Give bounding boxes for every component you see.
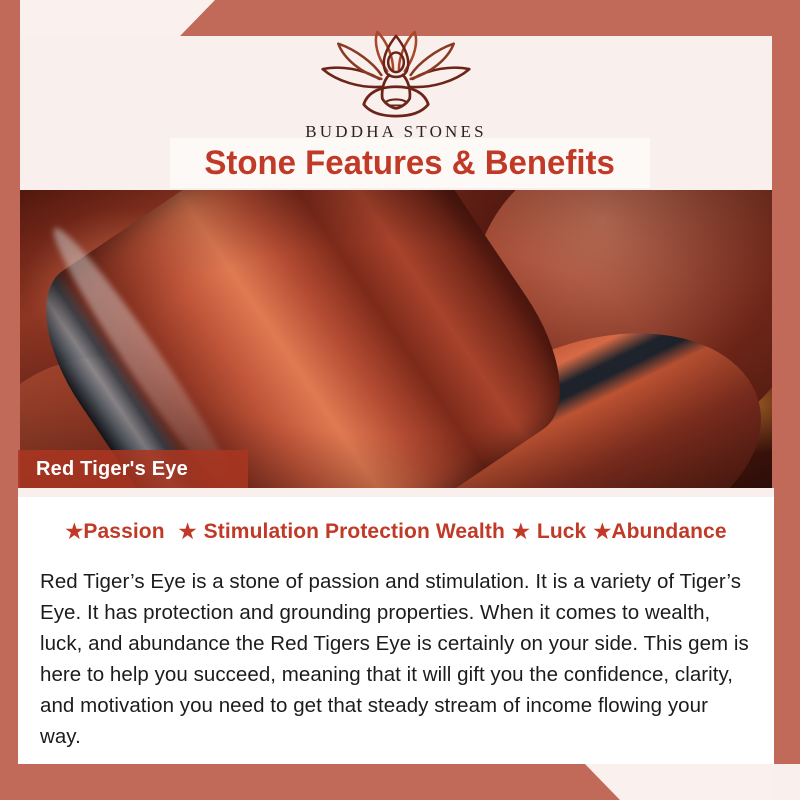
- star-icon: ★: [179, 521, 197, 543]
- keyword-list: ★Passion★Stimulation Protection Wealth★L…: [18, 520, 774, 544]
- keyword-abundance: Abundance: [611, 520, 726, 543]
- stone-name-label: Red Tiger's Eye: [36, 458, 188, 481]
- frame-right-band: [772, 0, 800, 800]
- star-icon: ★: [65, 521, 83, 543]
- lotus-meditation-icon: [311, 30, 481, 120]
- infographic-card: Red Tiger's Eye: [0, 0, 800, 800]
- keyword-passion: Passion: [83, 520, 164, 543]
- keyword-luck: Luck: [537, 520, 586, 543]
- photo-vignette: [18, 190, 774, 488]
- frame-left-band: [0, 0, 20, 800]
- title-banner: Stone Features & Benefits: [170, 138, 650, 188]
- keyword-stimulation-protection-wealth: Stimulation Protection Wealth: [204, 520, 505, 543]
- red-tigers-eye-stones-photo: [18, 190, 774, 488]
- photo-canvas: [18, 190, 774, 488]
- stone-name-tag: Red Tiger's Eye: [18, 450, 248, 488]
- star-icon: ★: [593, 521, 611, 543]
- panel-top-strip: [18, 488, 774, 497]
- page-title: Stone Features & Benefits: [205, 144, 616, 183]
- brand-logo: BUDDHA STONES: [305, 30, 487, 142]
- star-icon: ★: [512, 521, 530, 543]
- frame-bottom-band: [0, 764, 800, 800]
- stone-description: Red Tiger’s Eye is a stone of passion an…: [40, 566, 752, 752]
- frame-bottom-right-notch: [772, 764, 800, 800]
- content-panel: ★Passion★Stimulation Protection Wealth★L…: [18, 488, 774, 764]
